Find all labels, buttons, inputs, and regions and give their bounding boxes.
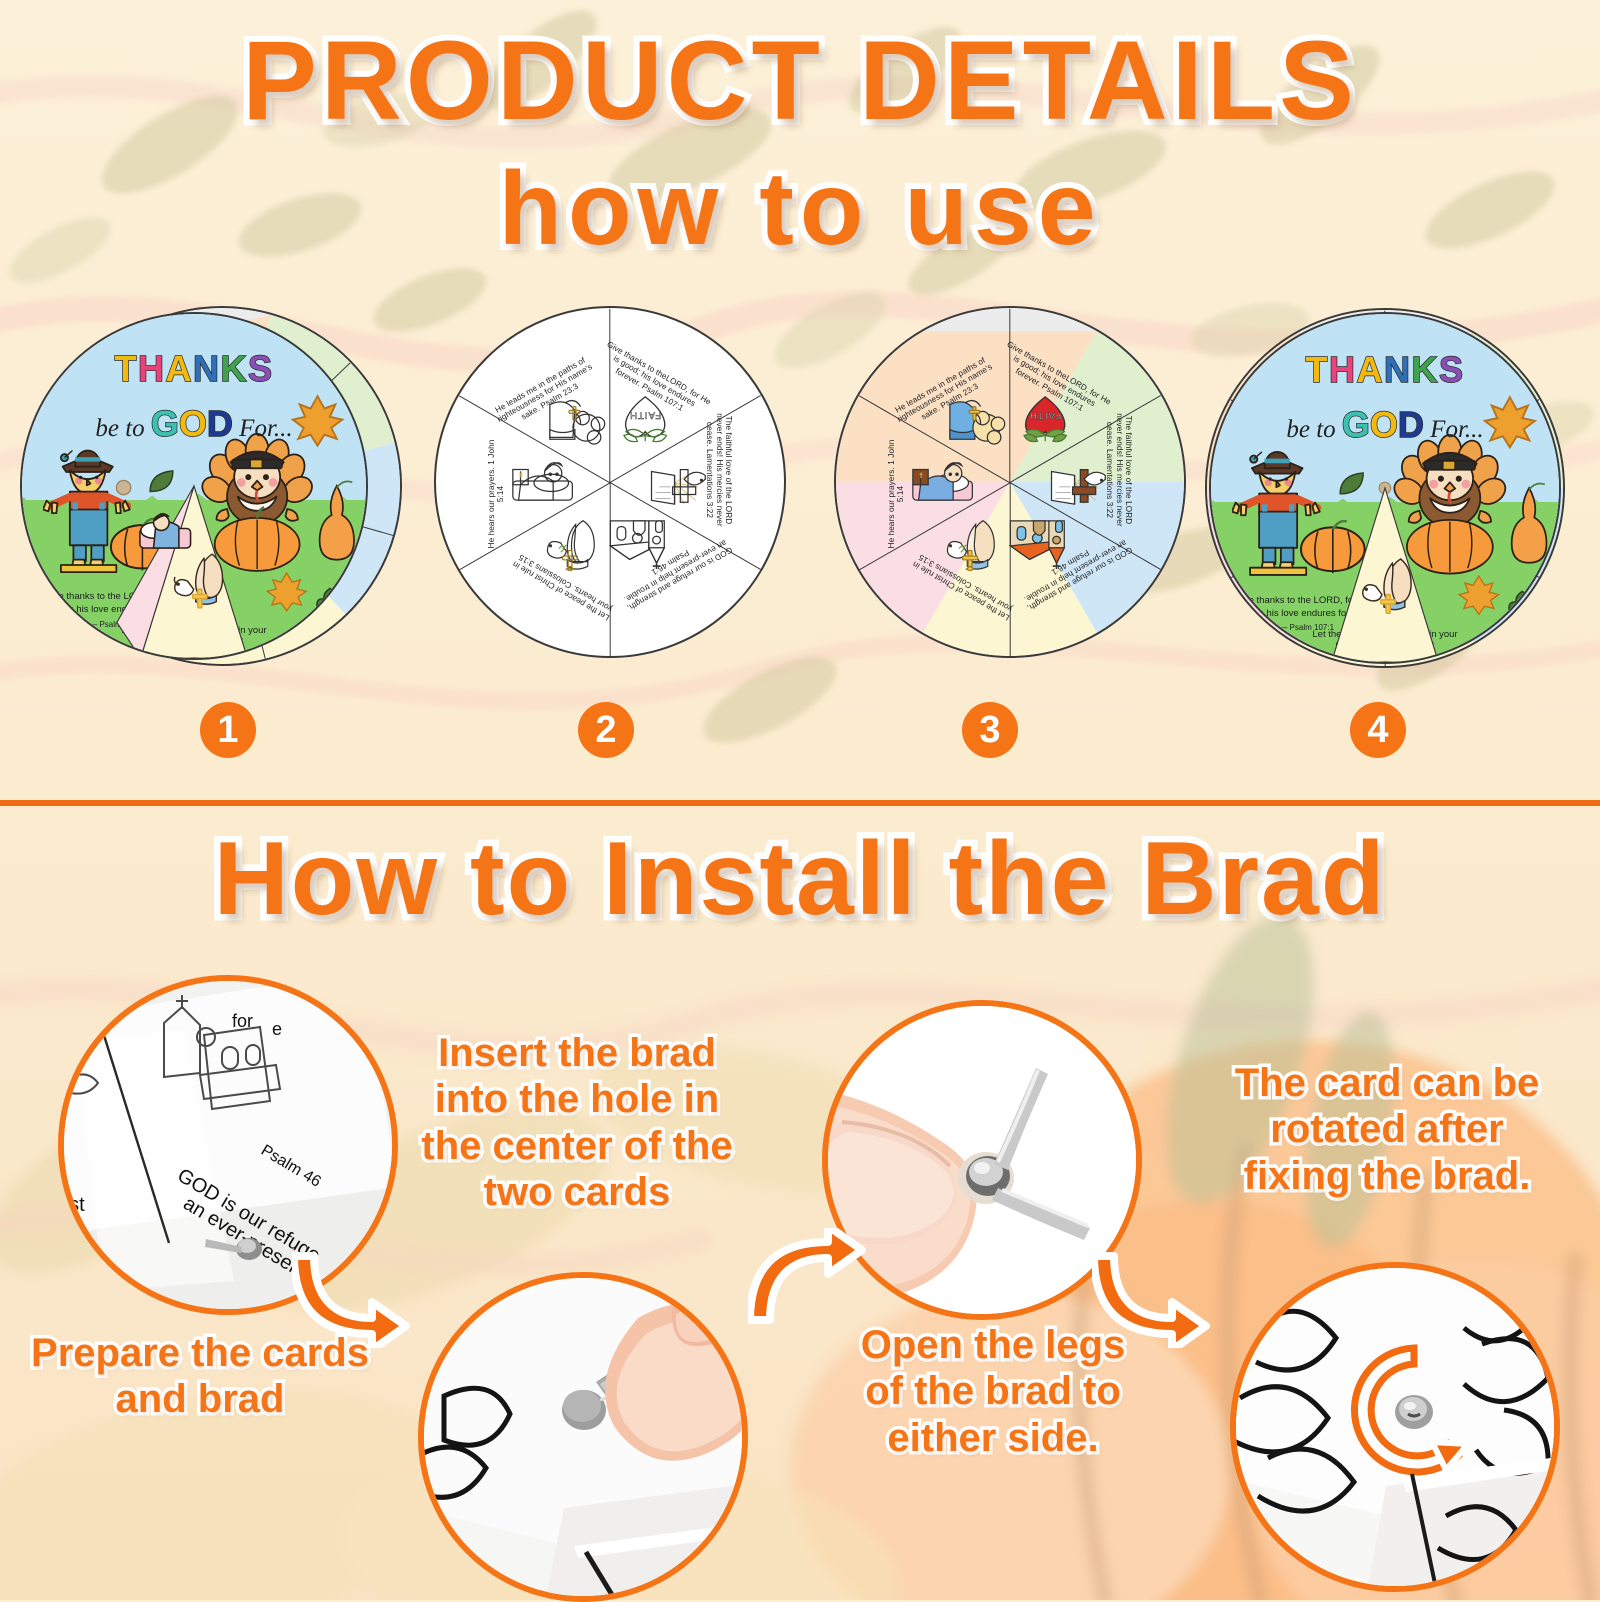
step-badge-3: 3	[962, 702, 1018, 758]
curved-arrow-icon	[1092, 1238, 1222, 1348]
wheel-step-1: Give thanks to theLORD, for He is good; …	[20, 298, 400, 688]
wedge-artwork	[946, 395, 1008, 450]
wheel-step-3: Give thanks to theLORD, for He is good; …	[820, 298, 1200, 688]
wheel-2-lineart-disc: Give thanks to theLORD, for He is good; …	[434, 306, 786, 658]
praying-hands-dove-icon	[546, 517, 602, 571]
svg-text:for: for	[232, 1011, 253, 1031]
section-divider	[0, 800, 1600, 806]
wedge-artwork	[1006, 512, 1074, 569]
faith-heart-wreath-icon: FAITH	[1016, 393, 1074, 447]
wedge-artwork	[511, 456, 575, 509]
photo-bubble-rotate-card	[1230, 1262, 1560, 1592]
wheel-step-4: THANKS be to GOD For... Give thanks to t…	[1205, 298, 1585, 688]
caption-rotate-card: The card can be rotated after fixing the…	[1212, 1060, 1562, 1199]
wedge-artwork	[546, 517, 602, 576]
child-kneeling-prayer-icon	[546, 395, 608, 445]
svg-text:e: e	[272, 1019, 282, 1039]
praying-hands-dove-icon	[946, 517, 1002, 571]
wedge-artwork: FAITH	[616, 388, 674, 447]
wheel-4-cover-card: THANKS be to GOD For... Give thanks to t…	[1209, 312, 1561, 664]
child-praying-bed-icon	[911, 456, 975, 504]
rotate-card-photo	[1236, 1268, 1560, 1592]
step-badge-4: 4	[1350, 702, 1406, 758]
svg-text:FAITH: FAITH	[1029, 409, 1061, 420]
wedge-artwork	[606, 512, 674, 569]
wheel-1-cover-card: THANKS be to GOD For... Give thanks to t…	[20, 312, 368, 660]
child-praying-bed-icon	[136, 500, 194, 555]
bible-cross-dove-icon	[647, 460, 709, 508]
svg-text:FAITH: FAITH	[629, 409, 661, 420]
page-title-sub: how to use	[0, 150, 1600, 269]
page-title-main: PRODUCT DETAILS	[0, 16, 1600, 145]
wheel-step-2: Give thanks to theLORD, for He is good; …	[420, 298, 800, 688]
wedge-artwork	[1047, 455, 1109, 508]
how-to-use-wheels: Give thanks to theLORD, for He is good; …	[0, 298, 1600, 698]
praying-hands-dove-icon	[173, 548, 235, 610]
church-icon	[1006, 517, 1074, 569]
section-title-install-brad: How to Install the Brad	[0, 820, 1600, 939]
wedge-artwork	[911, 456, 975, 509]
wedge-artwork: FAITH	[1016, 388, 1074, 447]
svg-text:rist: rist	[64, 1194, 85, 1216]
wedge-artwork	[647, 455, 709, 508]
wheel-3-colored-disc: Give thanks to theLORD, for He is good; …	[834, 306, 1186, 658]
child-praying-bed-icon	[511, 456, 575, 504]
bible-cross-dove-icon	[1047, 460, 1109, 508]
caption-insert-brad: Insert the brad into the hole in the cen…	[412, 1030, 742, 1216]
thanks-scene: THANKS be to GOD For... Give thanks to t…	[22, 314, 366, 658]
curved-arrow-icon	[292, 1238, 422, 1348]
photo-bubble-insert-brad	[418, 1272, 748, 1602]
step-badge-1: 1	[200, 702, 256, 758]
child-kneeling-prayer-icon	[946, 395, 1008, 445]
wedge-artwork	[546, 395, 608, 450]
faith-heart-wreath-icon: FAITH	[616, 393, 674, 447]
church-icon	[606, 517, 674, 569]
step-badge-2: 2	[578, 702, 634, 758]
insert-brad-photo	[424, 1278, 748, 1602]
wedge-artwork	[946, 517, 1002, 576]
praying-hands-dove-icon	[1361, 551, 1424, 617]
